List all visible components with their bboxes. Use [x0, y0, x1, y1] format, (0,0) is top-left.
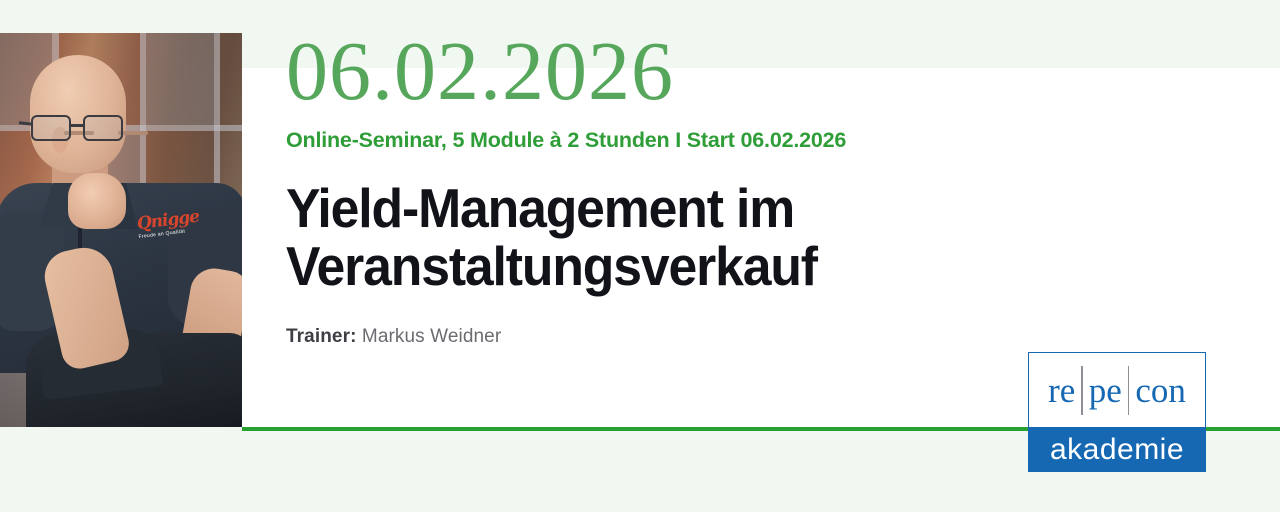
repecon-akademie-logo[interactable]: re pe con akademie	[1028, 352, 1206, 472]
trainer-row: Trainer: Markus Weidner	[286, 326, 1226, 348]
eyeglass-lens-left	[31, 115, 71, 141]
trainer-name: Markus Weidner	[362, 326, 501, 347]
logo-wordmark: re pe con	[1042, 373, 1192, 408]
page-title-line-2: Veranstaltungsverkauf	[286, 237, 1170, 295]
trainer-label: Trainer:	[286, 326, 357, 347]
eyeglass-lens-right	[83, 115, 123, 141]
person-fist	[68, 173, 126, 229]
logo-akademie-box: akademie	[1028, 427, 1206, 472]
seminar-banner: Qnigge Freude an Qualität 06.02.2026 Onl…	[0, 0, 1280, 512]
window-pane	[146, 33, 214, 125]
person-head	[30, 55, 126, 173]
logo-part-pe: pe	[1083, 373, 1128, 408]
eyeglasses-icon	[31, 115, 127, 141]
trainer-photo: Qnigge Freude an Qualität	[0, 33, 242, 427]
page-title-line-1: Yield-Management im	[286, 179, 1170, 237]
text-content: 06.02.2026 Online-Seminar, 5 Module à 2 …	[286, 30, 1226, 348]
seminar-date: 06.02.2026	[286, 30, 1226, 114]
logo-part-re: re	[1042, 373, 1081, 408]
eyeglass-bridge	[71, 124, 83, 127]
shirt-logo: Qnigge Freude an Qualität	[136, 210, 192, 250]
logo-akademie-text: akademie	[1050, 433, 1184, 467]
logo-part-con: con	[1129, 373, 1192, 408]
seminar-subtitle: Online-Seminar, 5 Module à 2 Stunden I S…	[286, 128, 1226, 153]
logo-wordmark-box: re pe con	[1028, 352, 1206, 428]
page-title: Yield-Management im Veranstaltungsverkau…	[286, 179, 1170, 296]
